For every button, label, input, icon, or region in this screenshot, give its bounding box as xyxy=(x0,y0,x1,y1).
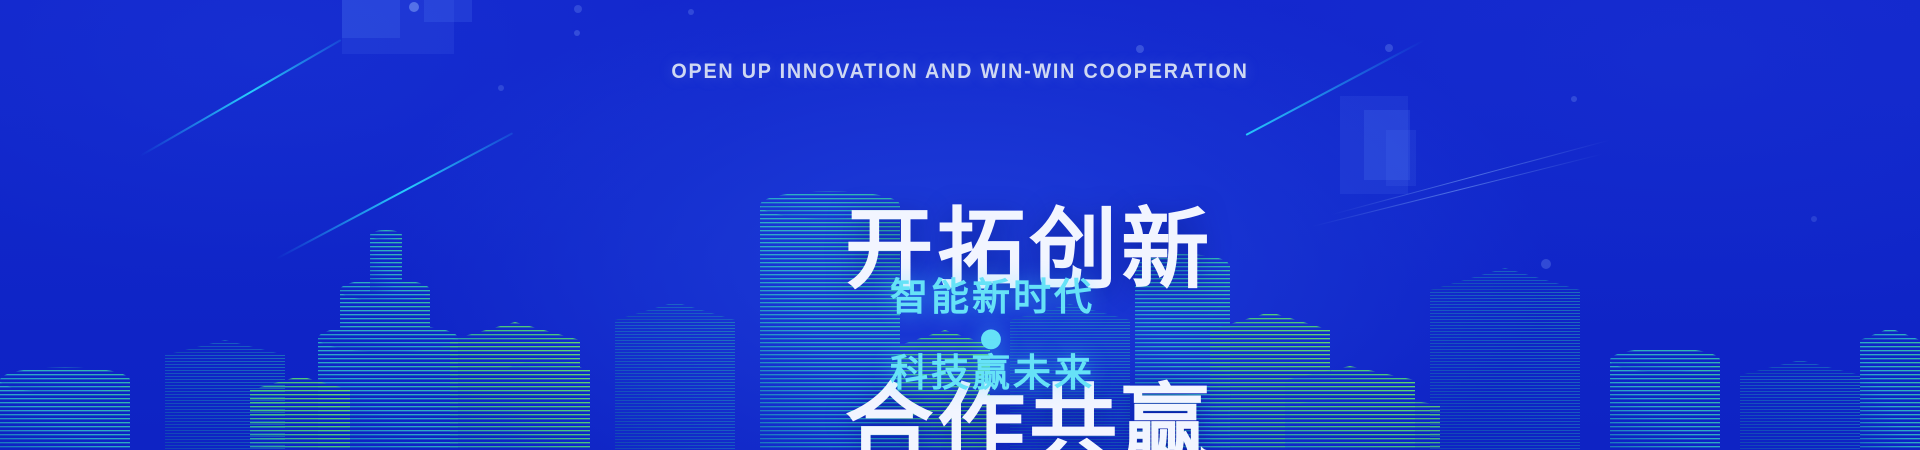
hero-banner: OPEN UP INNOVATION AND WIN-WIN COOPERATI… xyxy=(0,0,1920,450)
dot-1 xyxy=(409,2,419,12)
dot-3 xyxy=(688,9,694,15)
dot-4 xyxy=(574,5,582,13)
tagline-left: 智能新时代 xyxy=(890,275,1095,319)
banner-eyebrow-text: OPEN UP INNOVATION AND WIN-WIN COOPERATI… xyxy=(58,60,1863,84)
tagline-right: 科技赢未来 xyxy=(890,351,1095,395)
dot-9 xyxy=(498,85,504,91)
banner-tagline: 智能新时代 ● 科技赢未来 xyxy=(0,240,1920,430)
tagline-separator-icon: ● xyxy=(980,325,1006,351)
dot-5 xyxy=(1136,45,1144,53)
dot-7 xyxy=(1571,96,1577,102)
rect-top-left-tall xyxy=(424,0,472,22)
dot-2 xyxy=(574,30,580,36)
dot-6 xyxy=(1385,44,1393,52)
